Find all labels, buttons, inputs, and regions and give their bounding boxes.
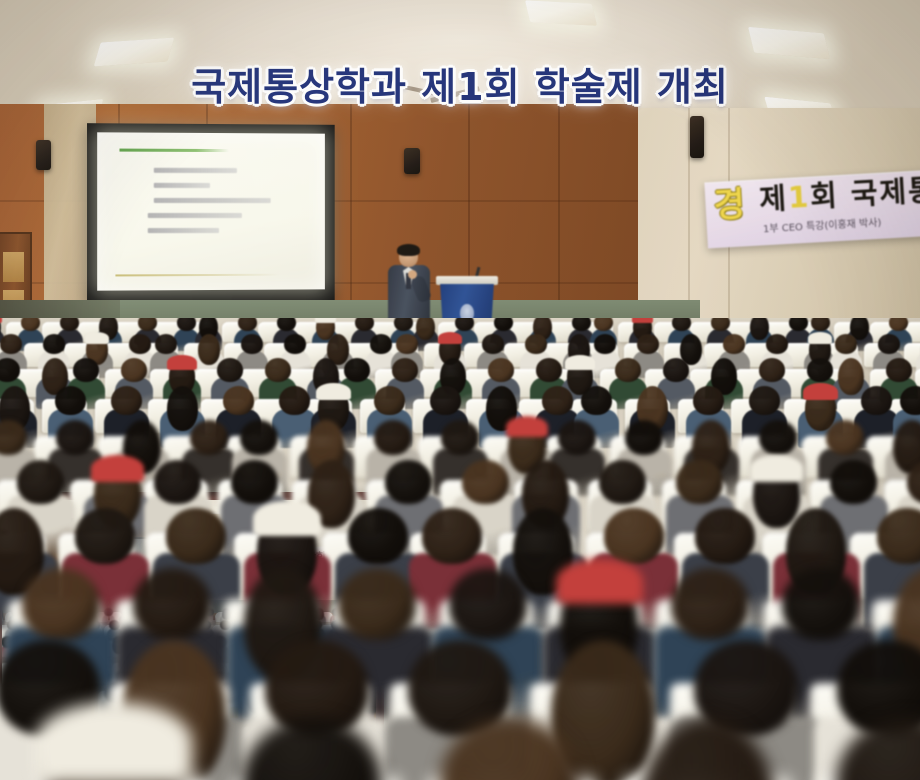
audience-head <box>835 334 857 354</box>
audience-cap <box>438 332 463 344</box>
audience-head <box>693 386 724 415</box>
audience-cap <box>750 455 803 482</box>
audience-head <box>759 420 797 455</box>
podium-top <box>436 276 498 285</box>
audience-head <box>217 358 243 382</box>
audience-head <box>695 508 755 564</box>
audience-cap <box>556 559 643 604</box>
banner-subline: 1부 CEO 특강(이홍재 박사) <box>763 214 882 236</box>
audience-head <box>121 358 147 382</box>
audience-cap <box>315 318 336 323</box>
audience-cap <box>167 355 196 370</box>
audience-head <box>671 568 749 640</box>
banner-headline: 제1회 국제통 <box>759 175 920 215</box>
audience-head <box>154 460 201 504</box>
presenter-hand <box>408 270 417 279</box>
audience-head <box>265 358 291 382</box>
audience-head <box>73 358 99 382</box>
audience-head <box>749 386 780 415</box>
wall-speaker-icon <box>36 140 51 170</box>
audience-head <box>155 334 177 354</box>
audience-cap <box>253 501 320 536</box>
audience-cap <box>35 702 192 780</box>
audience-head <box>223 386 254 415</box>
audience-head <box>133 568 211 640</box>
audience-head <box>838 358 864 395</box>
audience-head <box>663 358 689 382</box>
slide-bullet-line <box>154 198 270 203</box>
audience-head <box>167 386 198 431</box>
audience-head <box>392 358 418 382</box>
audience-head <box>22 568 100 640</box>
slide-bullet-line <box>154 168 237 173</box>
audience-head <box>374 420 412 455</box>
audience-head <box>581 386 612 415</box>
audience-head <box>344 358 370 382</box>
presenter-hair <box>397 244 420 256</box>
audience-head <box>886 358 912 382</box>
audience-head <box>676 460 723 504</box>
slide-bullet-line <box>148 213 242 218</box>
audience-head <box>231 460 278 504</box>
audience-head <box>430 386 461 415</box>
event-banner: 경 제1회 국제통 1부 CEO 특강(이홍재 박사) <box>704 170 920 249</box>
ceiling-light-panel <box>94 38 175 67</box>
audience-head <box>396 334 418 354</box>
photo-canvas: 경 제1회 국제통 1부 CEO 특강(이홍재 박사) 국제통상학과 제1회 학… <box>0 0 920 780</box>
audience-head <box>0 334 22 354</box>
slide-footer-rule <box>115 274 279 277</box>
slide-bullet-line <box>154 183 211 188</box>
audience-head <box>604 508 664 564</box>
audience-head <box>900 386 920 415</box>
wall-speaker-icon <box>404 148 420 174</box>
audience-cap <box>316 383 351 401</box>
audience-head <box>830 460 877 504</box>
banner-accent-char: 경 <box>713 187 746 223</box>
audience-head <box>637 334 659 354</box>
audience-cap <box>808 332 833 344</box>
audience-head <box>594 334 616 354</box>
audience-head <box>449 568 527 640</box>
audience-head <box>462 460 509 504</box>
audience-head <box>129 334 151 354</box>
audience-head <box>111 386 142 415</box>
audience-head <box>625 420 663 455</box>
audience-head <box>536 358 562 382</box>
audience-head <box>166 508 226 564</box>
audience-head <box>482 334 504 354</box>
audience-head <box>75 508 135 564</box>
audience-head <box>599 460 646 504</box>
ceiling-light-panel <box>525 0 597 25</box>
audience-head <box>826 420 864 455</box>
audience-head <box>807 358 833 382</box>
audience-head <box>198 334 220 365</box>
audience-head <box>441 420 479 455</box>
door-pane <box>3 252 24 282</box>
wall-speaker-icon <box>690 116 704 158</box>
ceiling-light-panel <box>748 27 830 59</box>
audience-cap <box>632 318 653 323</box>
audience-head <box>385 460 432 504</box>
audience-head <box>55 386 86 415</box>
audience-head <box>488 358 514 382</box>
audience-cap <box>565 355 594 370</box>
audience-head <box>17 460 64 504</box>
projector-slide <box>97 132 325 290</box>
audience-cap <box>803 383 838 401</box>
audience-head <box>240 420 278 455</box>
audience-head <box>284 334 306 354</box>
audience-head <box>766 334 788 354</box>
slide-bullet-line <box>148 228 220 233</box>
audience-area <box>0 318 920 780</box>
audience-head <box>190 420 228 455</box>
audience-head <box>782 568 860 640</box>
audience-cap <box>506 416 549 438</box>
audience-head <box>241 334 263 354</box>
audience-cap <box>91 455 144 482</box>
audience-head <box>759 358 785 382</box>
audience-head <box>615 358 641 382</box>
audience-head <box>723 334 745 354</box>
audience-head <box>348 508 408 564</box>
audience-head <box>861 386 892 415</box>
audience-head <box>374 386 405 415</box>
audience-head <box>558 420 596 455</box>
audience-head <box>56 420 94 455</box>
audience-head <box>279 386 310 415</box>
audience-head <box>525 334 547 354</box>
slide-header-rule <box>119 149 228 153</box>
audience-head <box>43 334 65 354</box>
audience-head <box>422 508 482 564</box>
audience-cap <box>0 318 2 323</box>
audience-head <box>338 568 416 640</box>
projector-screen <box>87 123 335 303</box>
audience-head <box>542 386 573 415</box>
audience-head <box>370 334 392 354</box>
audience-cap <box>85 332 110 344</box>
audience-head <box>878 334 900 354</box>
